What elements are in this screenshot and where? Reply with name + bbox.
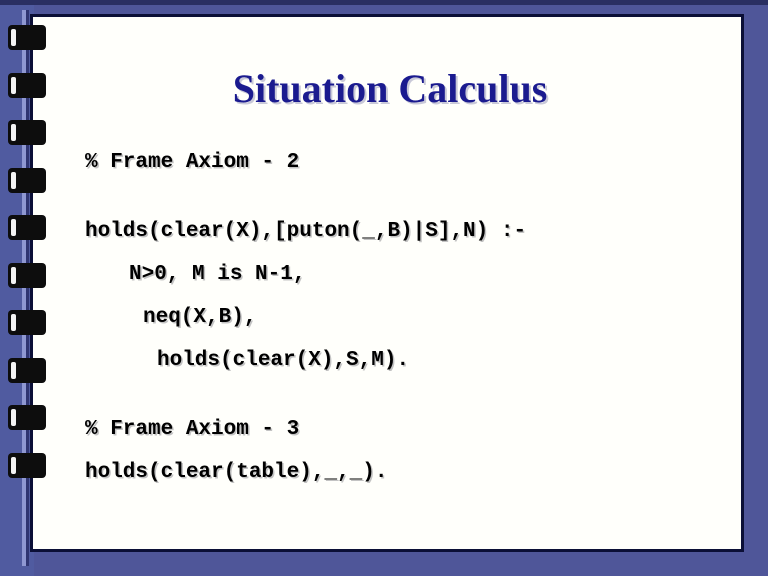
code-line-clause-goal-2: neq(X,B), xyxy=(85,296,735,339)
code-line-fact-clear-table: holds(clear(table),_,_). xyxy=(85,451,735,494)
binder-ring xyxy=(8,310,46,335)
binder-ring xyxy=(8,453,46,478)
binder-ring xyxy=(8,263,46,288)
code-spacer xyxy=(85,382,735,408)
code-line-clause-goal-3: holds(clear(X),S,M). xyxy=(85,339,735,382)
binder-ring xyxy=(8,25,46,50)
code-line-comment-frame-axiom-2: % Frame Axiom - 2 xyxy=(85,141,735,184)
slide-body-code: % Frame Axiom - 2holds(clear(X),[puton(_… xyxy=(85,141,735,494)
binder-ring xyxy=(8,358,46,383)
binder-ring xyxy=(8,120,46,145)
slide-page: Situation Calculus % Frame Axiom - 2hold… xyxy=(30,14,744,552)
presentation-slide: Situation Calculus % Frame Axiom - 2hold… xyxy=(0,0,768,576)
slide-content: Situation Calculus % Frame Axiom - 2hold… xyxy=(33,17,747,555)
binder-ring xyxy=(8,168,46,193)
code-line-clause-goal-1: N>0, M is N-1, xyxy=(85,253,735,296)
code-line-comment-frame-axiom-3: % Frame Axiom - 3 xyxy=(85,408,735,451)
code-spacer xyxy=(85,184,735,210)
binder-ring xyxy=(8,405,46,430)
code-line-clause-head: holds(clear(X),[puton(_,B)|S],N) :- xyxy=(85,210,735,253)
binder-ring xyxy=(8,215,46,240)
top-border-strip xyxy=(0,0,768,5)
binder-ring xyxy=(8,73,46,98)
slide-title: Situation Calculus xyxy=(33,65,747,112)
